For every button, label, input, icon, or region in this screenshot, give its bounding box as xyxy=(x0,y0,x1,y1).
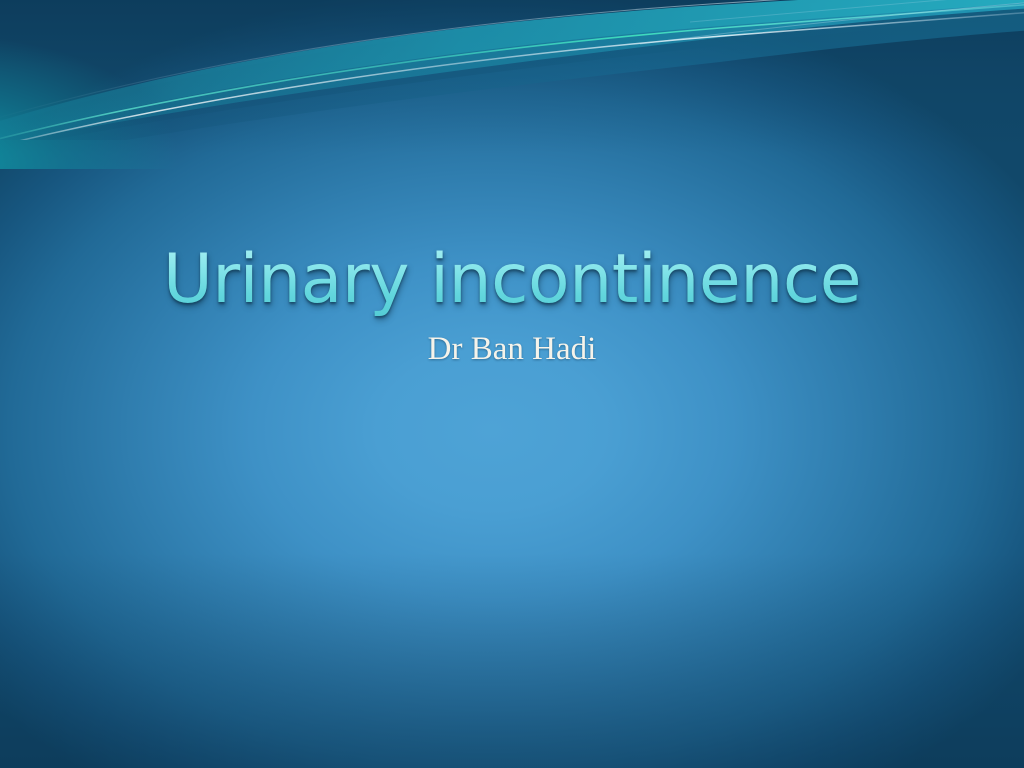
page-title: Urinary incontinence xyxy=(0,243,1024,316)
title-text-block: Urinary incontinence Dr Ban Hadi xyxy=(0,243,1024,370)
page-subtitle: Dr Ban Hadi xyxy=(0,330,1024,370)
header-wave-decoration xyxy=(0,0,1024,140)
title-slide: Urinary incontinence Dr Ban Hadi xyxy=(0,0,1024,768)
